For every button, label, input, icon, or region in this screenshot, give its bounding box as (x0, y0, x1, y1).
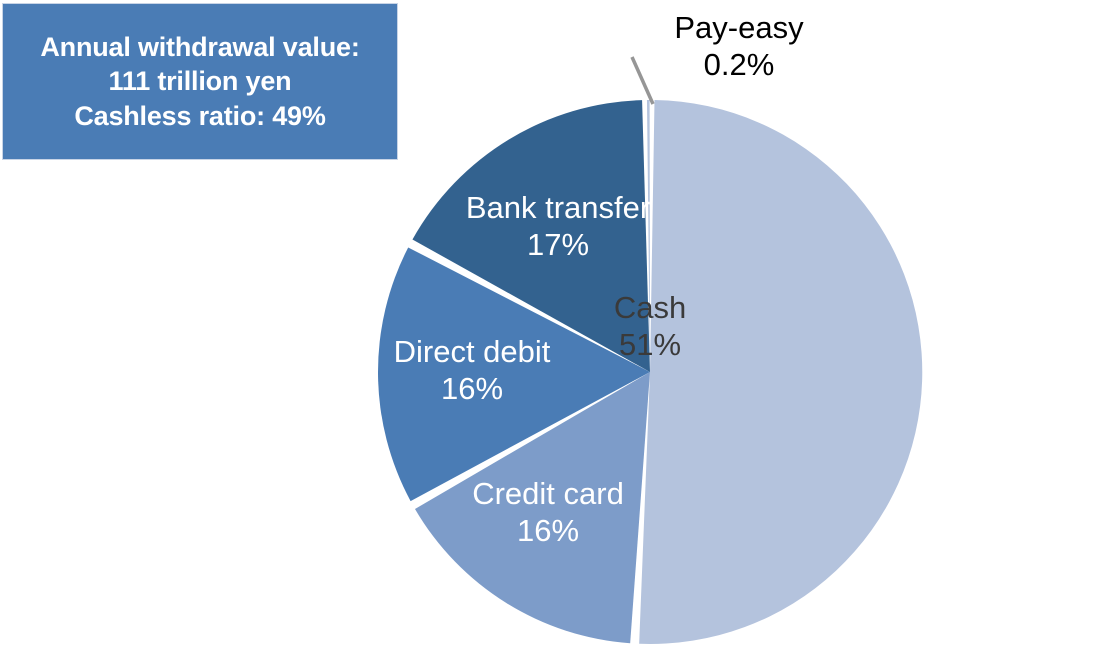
pie-graphic (0, 0, 1120, 668)
pie-chart-figure: Annual withdrawal value: 111 trillion ye… (0, 0, 1120, 668)
pie-slices-group (378, 100, 922, 644)
pay-easy-leader-line (632, 57, 653, 104)
pie-slice-cash (639, 100, 922, 644)
